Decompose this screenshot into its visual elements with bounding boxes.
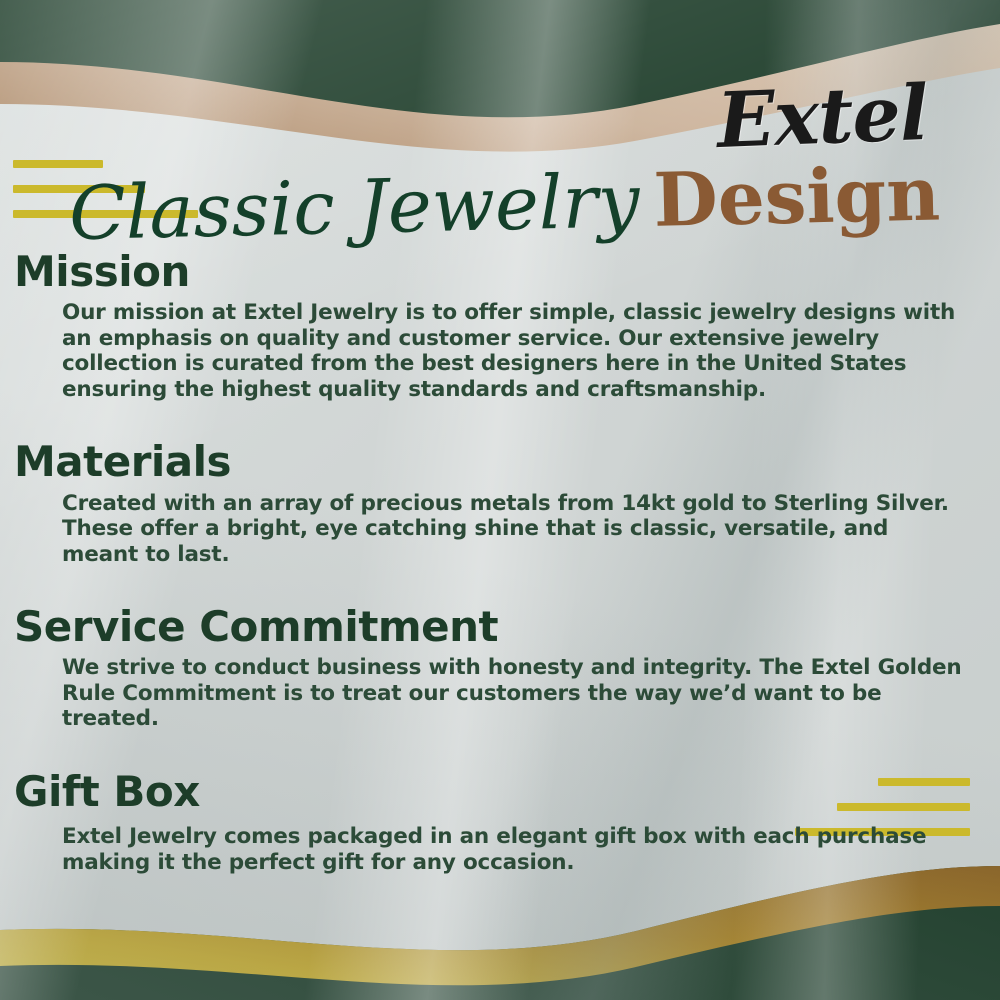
section-service-commitment: Service Commitment We strive to conduct … bbox=[0, 605, 1000, 732]
section-body: We strive to conduct business with hones… bbox=[62, 655, 966, 732]
page-title-classic-jewelry: Classic Jewelry bbox=[68, 158, 640, 257]
section-heading: Service Commitment bbox=[14, 605, 1000, 649]
section-body: Created with an array of precious metals… bbox=[62, 491, 966, 568]
section-body: Our mission at Extel Jewelry is to offer… bbox=[62, 300, 966, 402]
section-gift-box: Gift Box Extel Jewelry comes packaged in… bbox=[0, 770, 1000, 875]
poster: Extel Classic JewelryDesign Mission Our … bbox=[0, 0, 1000, 1000]
section-mission: Mission Our mission at Extel Jewelry is … bbox=[0, 250, 1000, 402]
section-body: Extel Jewelry comes packaged in an elega… bbox=[62, 824, 966, 875]
section-heading: Materials bbox=[14, 440, 1000, 484]
content-sections: Mission Our mission at Extel Jewelry is … bbox=[0, 250, 1000, 879]
page-title-design: Design bbox=[653, 151, 941, 243]
brand-logo-extel: Extel bbox=[716, 68, 930, 165]
section-heading: Gift Box bbox=[14, 770, 1000, 814]
section-materials: Materials Created with an array of preci… bbox=[0, 440, 1000, 567]
section-heading: Mission bbox=[14, 250, 1000, 294]
page-title: Classic JewelryDesign bbox=[0, 150, 1000, 259]
brand-header: Extel Classic JewelryDesign bbox=[0, 150, 1000, 260]
